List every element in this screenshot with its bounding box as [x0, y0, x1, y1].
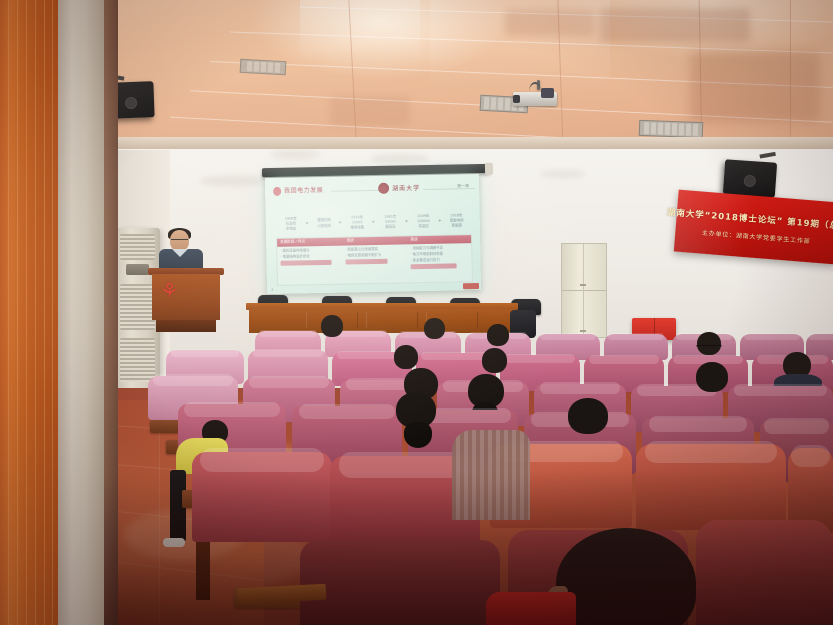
table-header-row: 发展阶段 / 特点 现状 挑战	[277, 235, 471, 247]
podium-logo-icon: ⚘	[160, 280, 178, 302]
ceiling-soffit	[110, 137, 833, 149]
projection-screen: 我国电力发展 湖南大学 第一章 1908年 石龙坝 水电站 ▸ 建国初期 小型电…	[266, 172, 482, 294]
beige-column	[58, 0, 104, 625]
seat	[192, 452, 332, 542]
slide-flow-diagram: 1908年 石龙坝 水电站 ▸ 建国初期 小型电网 ▸ 1972年 110kV …	[278, 210, 470, 234]
slide-header: 我国电力发展 湖南大学 第一章	[273, 182, 471, 198]
attendee	[388, 392, 448, 446]
wall-cabinet[interactable]	[561, 243, 607, 338]
flow-step: 1972年 110kV 输电线路	[344, 213, 371, 231]
attendee	[484, 324, 514, 350]
seat	[300, 540, 500, 625]
presenter	[158, 230, 204, 272]
slide-bullet-icon	[273, 187, 281, 196]
table-column: · 消纳能力与调峰不足 · 电力市场机制待完善 · 安全稳定运行压力	[407, 243, 472, 282]
seat	[696, 520, 833, 625]
flow-step: 1981年 500kV 超高压	[377, 212, 404, 230]
screen-surface: 我国电力发展 湖南大学 第一章 1908年 石龙坝 水电站 ▸ 建国初期 小型电…	[265, 174, 481, 294]
table-header-cell: 挑战	[407, 235, 471, 244]
slide-table: 发展阶段 / 特点 现状 挑战 · 装机容量持续增长 · 电源结构逐步优化 · …	[276, 234, 473, 286]
attendee	[316, 315, 348, 341]
slide-logo-text: 湖南大学	[392, 183, 420, 193]
flow-arrow-icon: ▸	[371, 219, 376, 224]
attendee	[690, 362, 736, 402]
seat	[636, 444, 786, 530]
slide-page-indicator: 第一章	[457, 183, 469, 189]
flow-step: 2009年 1000kV 特高压	[410, 212, 437, 230]
podium: ⚘	[152, 268, 220, 330]
lecture-hall-photo: 湖南大学“2018博士论坛” 第19期（总第 主办单位：湖南大学党委学生工作部 …	[0, 0, 833, 625]
banner-line-2: 主办单位：湖南大学党委学生工作部	[702, 228, 811, 246]
projector	[513, 88, 565, 108]
red-garment	[486, 592, 576, 625]
table-header-cell: 发展阶段 / 特点	[277, 238, 344, 247]
glasses-icon	[696, 345, 722, 350]
column-edge	[104, 0, 118, 625]
seat-leg	[196, 540, 210, 600]
slide-corner-badge	[463, 283, 479, 289]
flow-step: 建国初期 小型电网	[311, 214, 338, 232]
banner-line-1: 湖南大学“2018博士论坛” 第19期（总第	[666, 206, 833, 233]
slide-footer: 4	[271, 288, 273, 292]
flow-arrow-icon: ▸	[438, 218, 443, 223]
flow-arrow-icon: ▸	[338, 220, 343, 225]
table-column: · 装机容量持续增长 · 电源结构逐步优化	[277, 246, 343, 285]
wood-panel-column	[0, 0, 58, 625]
shoe	[163, 538, 185, 547]
glasses-icon	[171, 239, 188, 244]
flow-arrow-icon: ▸	[305, 221, 310, 226]
table-column: · 新能源占比快速提高 · 电网互联规模不断扩大	[342, 244, 408, 283]
flow-arrow-icon: ▸	[404, 219, 409, 224]
attendee-checkered-shirt	[452, 430, 530, 520]
university-logo-icon	[378, 183, 389, 194]
flow-step: 1908年 石龙坝 水电站	[278, 214, 305, 232]
flow-step: 2018年 智能电网 新能源	[443, 211, 470, 229]
ceiling-vent-right	[639, 120, 704, 138]
attendee	[420, 318, 450, 342]
table-header-cell: 现状	[344, 236, 408, 245]
speaker-right	[723, 159, 777, 198]
slide-title: 我国电力发展	[284, 185, 323, 195]
event-banner: 湖南大学“2018博士论坛” 第19期（总第 主办单位：湖南大学党委学生工作部	[674, 190, 833, 265]
ceiling-vent-far-left	[240, 59, 287, 75]
